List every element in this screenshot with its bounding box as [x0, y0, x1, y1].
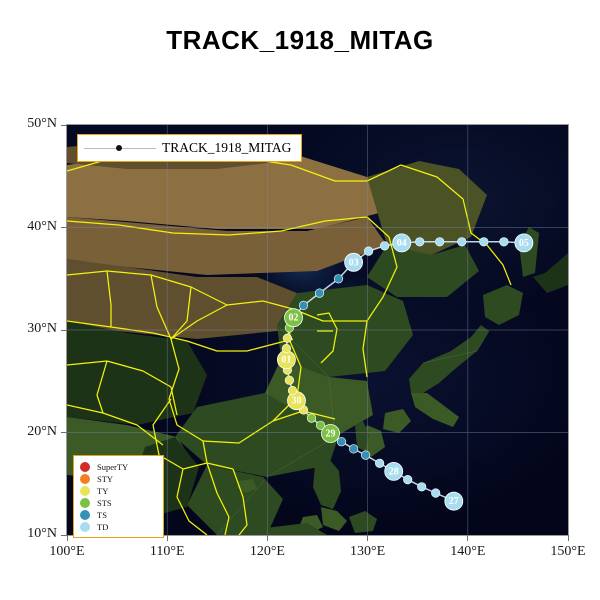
- track-point-label: 28: [389, 466, 399, 477]
- track-point[interactable]: [415, 238, 424, 247]
- track-legend-label: TRACK_1918_MITAG: [162, 140, 291, 156]
- legend-category-row: STS: [80, 497, 158, 509]
- legend-category-row: STY: [80, 473, 158, 485]
- x-axis-label: 120°E: [227, 544, 307, 560]
- line-dot-marker: [84, 142, 156, 154]
- x-axis-label: 130°E: [328, 544, 408, 560]
- track-point[interactable]: [299, 301, 308, 310]
- y-axis-tick: [61, 330, 67, 331]
- track-point[interactable]: [403, 475, 412, 484]
- track-point[interactable]: [417, 483, 426, 492]
- track-point-label: 27: [449, 496, 459, 507]
- track-point[interactable]: [435, 238, 444, 247]
- legend-category-row: TS: [80, 509, 158, 521]
- x-axis-tick: [367, 535, 368, 541]
- x-axis-tick: [568, 535, 569, 541]
- track-point-label: 29: [326, 429, 336, 440]
- track-point[interactable]: [380, 242, 389, 251]
- legend-category-label: TY: [97, 487, 108, 496]
- track-point[interactable]: [458, 238, 467, 247]
- y-axis-label: 30°N: [1, 321, 57, 337]
- track-point[interactable]: [307, 414, 316, 423]
- track-point[interactable]: [315, 289, 324, 298]
- track-point-label: 01: [281, 355, 291, 366]
- track-point[interactable]: [375, 459, 384, 468]
- x-axis-tick: [467, 535, 468, 541]
- y-axis-tick: [61, 432, 67, 433]
- track-legend-box: TRACK_1918_MITAG: [77, 134, 302, 162]
- track-point[interactable]: [349, 445, 358, 454]
- track-point[interactable]: [283, 334, 292, 343]
- x-axis-tick: [267, 535, 268, 541]
- y-axis-tick: [61, 535, 67, 536]
- y-axis-label: 40°N: [1, 219, 57, 235]
- track-point-label: 02: [289, 313, 299, 324]
- track-point[interactable]: [337, 437, 346, 446]
- track-point[interactable]: [431, 489, 440, 498]
- track-point[interactable]: [316, 421, 325, 430]
- legend-category-label: STY: [97, 475, 113, 484]
- legend-category-label: TS: [97, 511, 107, 520]
- typhoon-track-figure: TRACK_1918_MITAG: [0, 0, 600, 600]
- legend-swatch-sts: [80, 498, 90, 508]
- track-point[interactable]: [500, 238, 509, 247]
- legend-category-label: STS: [97, 499, 112, 508]
- page-title: TRACK_1918_MITAG: [0, 25, 600, 56]
- track-point[interactable]: [361, 451, 370, 460]
- legend-swatch-superty: [80, 462, 90, 472]
- legend-swatch-sty: [80, 474, 90, 484]
- y-axis-tick: [61, 125, 67, 126]
- x-axis-tick: [67, 535, 68, 541]
- track-point-label: 05: [519, 238, 529, 249]
- x-axis-label: 150°E: [528, 544, 600, 560]
- x-axis-label: 110°E: [127, 544, 207, 560]
- track-point[interactable]: [282, 344, 291, 353]
- legend-swatch-ts: [80, 510, 90, 520]
- legend-swatch-td: [80, 522, 90, 532]
- track-point[interactable]: [480, 238, 489, 247]
- track-point-label: 04: [397, 238, 407, 249]
- y-axis-label: 20°N: [1, 424, 57, 440]
- track-point-label: 30: [292, 396, 302, 407]
- track-point[interactable]: [288, 386, 297, 395]
- x-axis-label: 140°E: [428, 544, 508, 560]
- x-axis-label: 100°E: [27, 544, 107, 560]
- legend-category-row: TD: [80, 521, 158, 533]
- legend-swatch-ty: [80, 486, 90, 496]
- x-axis-tick: [167, 535, 168, 541]
- track-point-label: 03: [349, 257, 359, 268]
- y-axis-tick: [61, 227, 67, 228]
- legend-category-row: TY: [80, 485, 158, 497]
- y-axis-label: 50°N: [1, 116, 57, 132]
- intensity-category-legend: SuperTYSTYTYSTSTSTD: [73, 455, 164, 538]
- track-point[interactable]: [285, 376, 294, 385]
- track-point[interactable]: [364, 247, 373, 256]
- y-axis-label: 10°N: [1, 526, 57, 542]
- legend-category-label: TD: [97, 523, 108, 532]
- track-point[interactable]: [334, 275, 343, 284]
- legend-category-row: SuperTY: [80, 461, 158, 473]
- legend-category-label: SuperTY: [97, 463, 128, 472]
